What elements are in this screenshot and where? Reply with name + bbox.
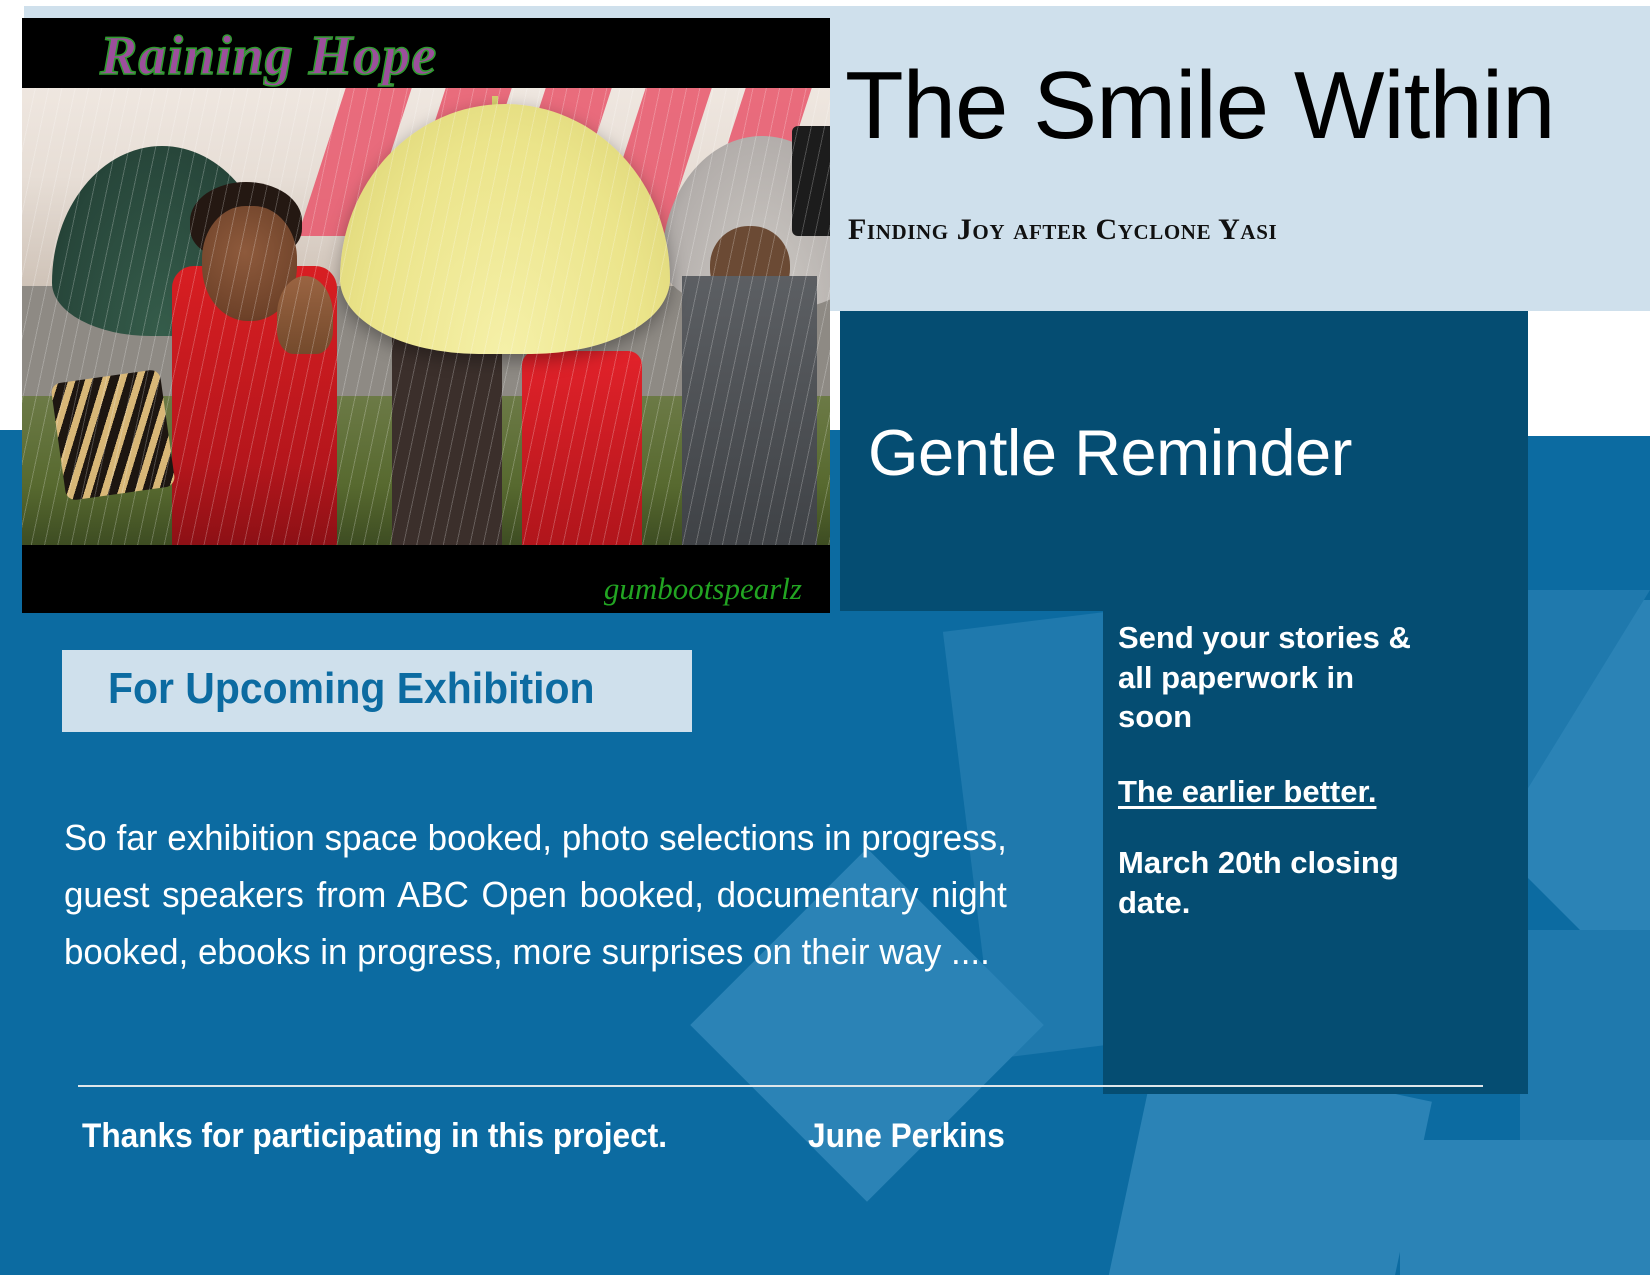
page-subtitle: Finding Joy after Cyclone Yasi [848,213,1277,247]
hero-photo: Raining Hope gumbootspearlz [22,18,830,613]
white-gap-left [0,0,24,430]
photo-rain-overlay [22,86,830,546]
white-gap-right [1528,311,1650,436]
reminder-line-2: The earlier better. [1118,772,1418,812]
exhibition-body-text: So far exhibition space booked, photo se… [64,810,1007,981]
reminder-heading: Gentle Reminder [868,415,1352,490]
slide-canvas: Raining Hope gumbootspearlz The Smile Wi… [0,0,1650,1275]
page-title: The Smile Within [845,58,1555,154]
footer-divider [78,1085,1483,1087]
photo-watermark: gumbootspearlz [604,571,802,607]
footer-author-name: June Perkins [808,1117,1005,1156]
photo-overlay-title: Raining Hope [100,24,437,88]
footer-thanks-text: Thanks for participating in this project… [82,1117,667,1156]
exhibition-label: For Upcoming Exhibition [108,664,594,714]
photo-scene [22,86,830,546]
reminder-line-3: March 20th closing date. [1118,843,1418,922]
reminder-line-1: Send your stories & all paperwork in soo… [1118,618,1418,737]
decorative-shape-bottom-right [1400,1140,1650,1275]
